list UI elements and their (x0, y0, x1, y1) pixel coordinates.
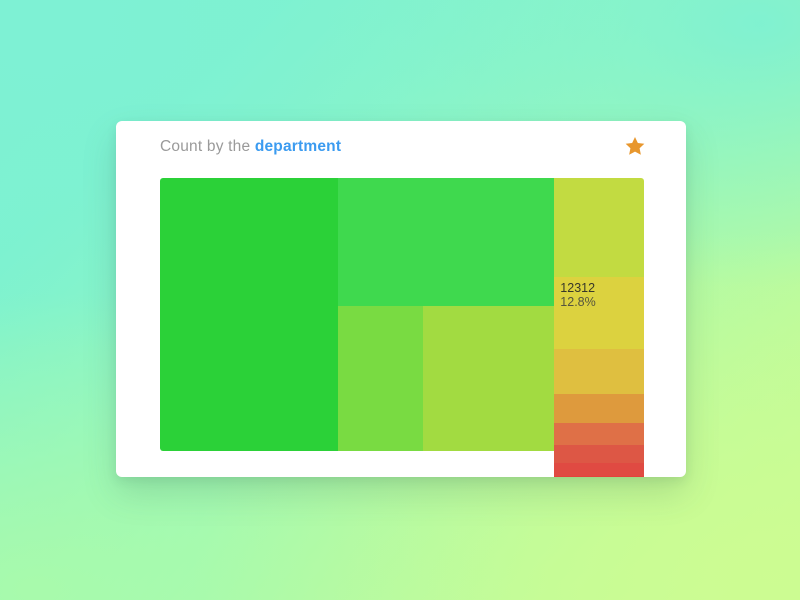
chart-card: Count by the department 1231212.8% (116, 121, 686, 477)
treemap-tile[interactable] (554, 463, 644, 476)
treemap-tile-label: 1231212.8% (560, 281, 595, 309)
star-icon[interactable] (624, 135, 646, 157)
chart-title-dimension-link[interactable]: department (255, 138, 341, 155)
page-title: Count by the department (160, 138, 341, 156)
treemap-tile[interactable] (423, 306, 555, 451)
chart-title-prefix: Count by the (160, 138, 255, 155)
treemap-tile[interactable] (338, 178, 555, 306)
treemap-tile-percent: 12.8% (560, 295, 595, 309)
treemap-tile[interactable] (554, 476, 644, 477)
treemap-tile-value: 12312 (560, 281, 595, 295)
treemap-tile[interactable] (554, 349, 644, 394)
treemap-tile[interactable] (554, 178, 644, 277)
treemap-tile[interactable] (338, 306, 423, 451)
treemap-tile[interactable] (554, 445, 644, 463)
card-header: Count by the department (116, 121, 686, 178)
treemap-tile[interactable] (160, 178, 338, 451)
treemap-tile[interactable] (554, 423, 644, 445)
treemap-tile[interactable] (554, 394, 644, 423)
treemap-chart[interactable]: 1231212.8% (160, 178, 644, 451)
treemap-tile[interactable]: 1231212.8% (554, 277, 644, 349)
